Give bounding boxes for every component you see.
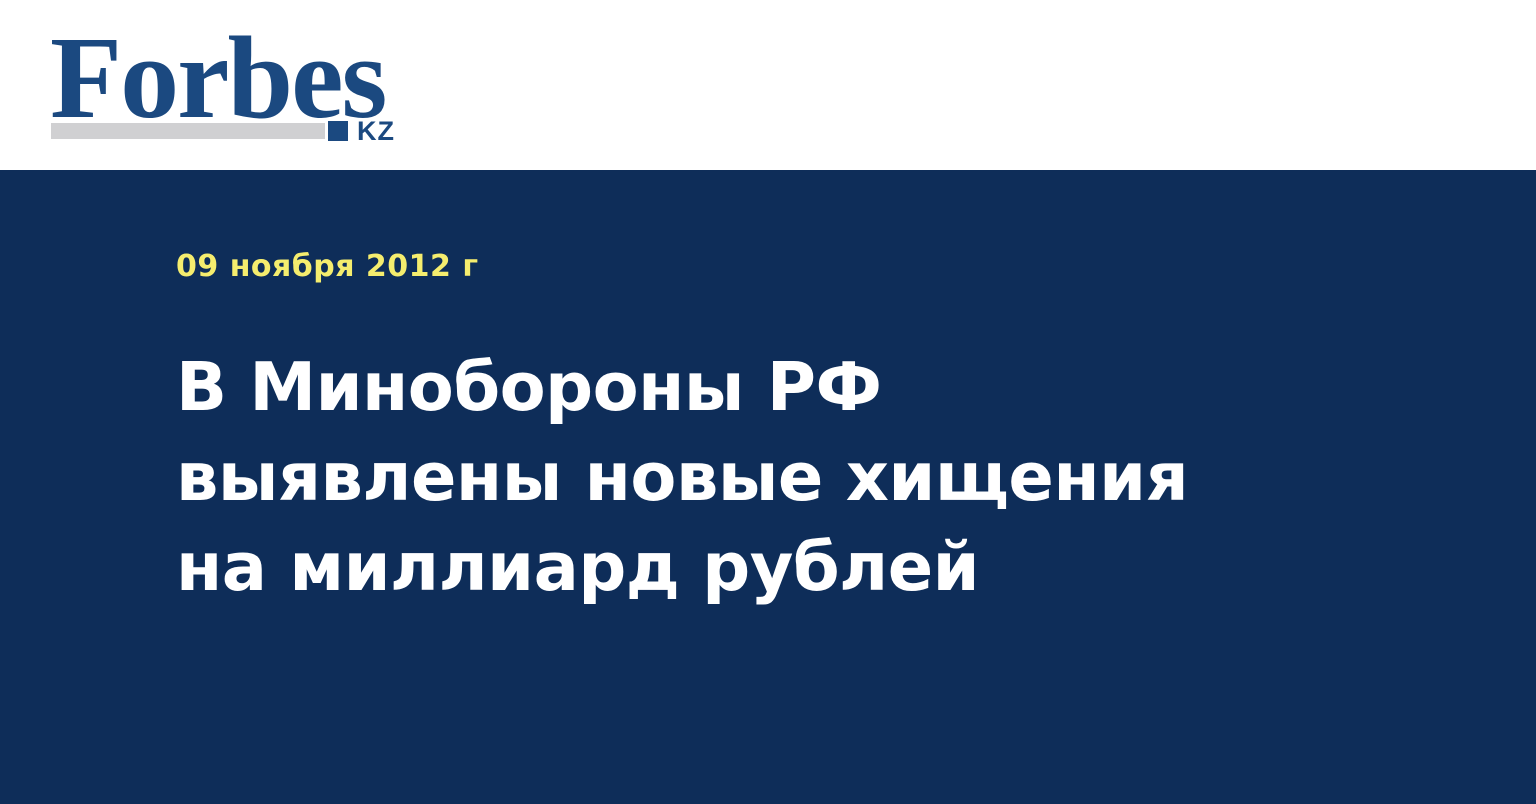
site-header: Forbes KZ: [0, 0, 1536, 170]
article-date: 09 ноября 2012 г: [176, 250, 479, 284]
logo-kz-label: KZ: [357, 118, 395, 145]
logo-square-icon: [328, 121, 348, 141]
article-title: В Минобороны РФ выявлены новые хищения н…: [176, 342, 1236, 612]
logo-rule-divider: [51, 123, 325, 139]
forbes-kz-logo[interactable]: Forbes KZ: [50, 22, 420, 147]
logo-wordmark: Forbes: [50, 22, 385, 134]
article-hero: 09 ноября 2012 г В Минобороны РФ выявлен…: [0, 170, 1536, 804]
article-page: Forbes KZ 09 ноября 2012 г В Минобороны …: [0, 0, 1536, 804]
